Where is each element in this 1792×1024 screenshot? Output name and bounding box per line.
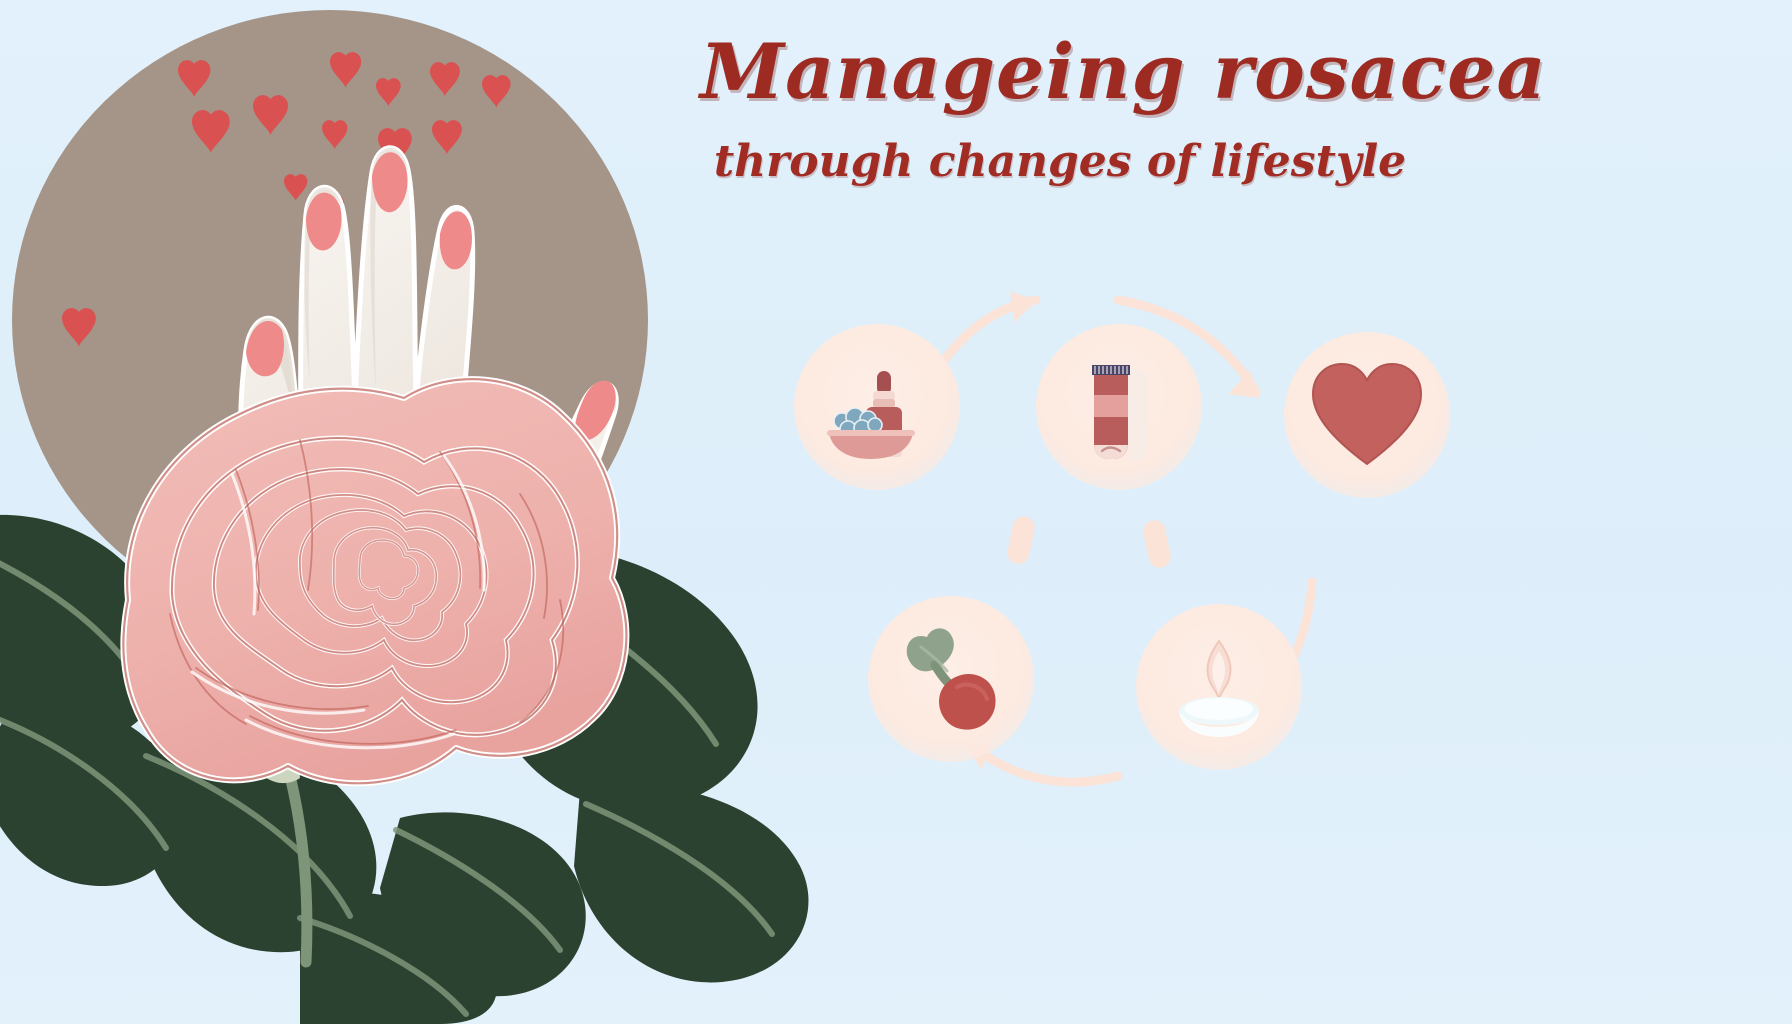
berries-and-serum-bottle-icon	[827, 371, 915, 459]
decorative-pills	[1005, 514, 1172, 570]
vegetable-leaves	[907, 628, 954, 671]
pill-right	[1141, 518, 1172, 570]
tube-label-band	[1094, 395, 1128, 417]
node-vegetable[interactable]	[868, 596, 1034, 762]
rose-bloom	[123, 379, 626, 783]
radish-vegetable-icon	[907, 628, 996, 729]
pill-left	[1005, 514, 1036, 566]
node-cream-tube[interactable]	[1036, 324, 1202, 490]
spa-candle-icon	[1179, 641, 1259, 737]
vegetable-root	[939, 674, 995, 730]
tube-shadow	[1126, 367, 1148, 461]
poster-canvas: Manageing rosacea through changes of lif…	[0, 0, 1792, 1024]
cream-tube-icon	[1092, 365, 1148, 461]
bowl-rim	[827, 430, 915, 436]
node-spa-candle[interactable]	[1136, 604, 1302, 770]
heart-icon	[1313, 364, 1421, 464]
node-berries-serum[interactable]	[794, 324, 960, 490]
lifestyle-cycle-diagram	[860, 280, 1620, 840]
candle-wax	[1185, 698, 1253, 720]
hands-rose-hearts-illustration	[0, 0, 820, 1024]
node-heart[interactable]	[1284, 332, 1450, 498]
